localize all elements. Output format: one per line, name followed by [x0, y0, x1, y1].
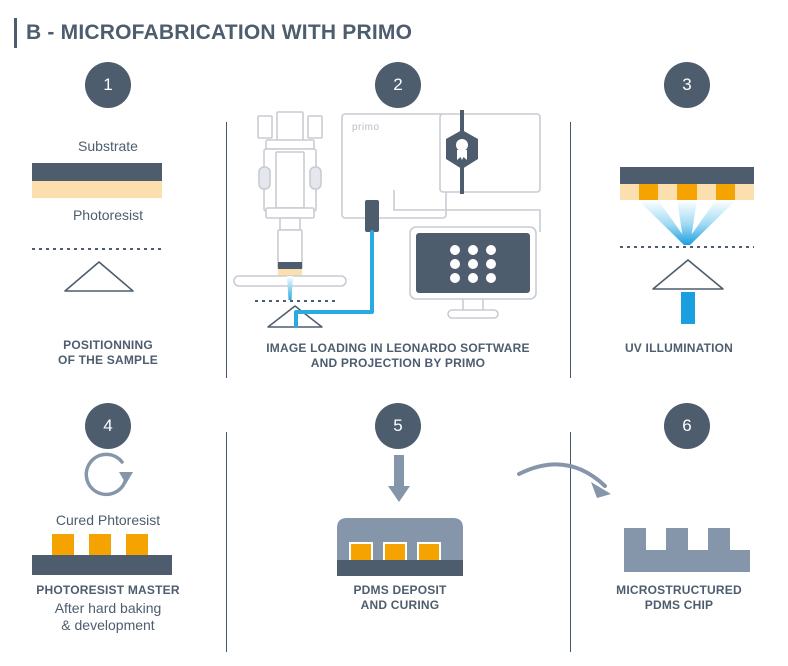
diagram-root: B - MICROFABRICATION WITH PRIMO 1 Substr…: [0, 0, 788, 666]
resist-segment-cured: [639, 184, 658, 200]
label-substrate: Substrate: [0, 138, 216, 154]
demold-curved-arrow: [515, 452, 630, 514]
cured-block-3: [419, 544, 439, 560]
subcaption-step-4: After hard baking & development: [0, 600, 216, 634]
resist-segment-cured: [716, 184, 735, 200]
divider-row2-left: [226, 432, 227, 652]
step-badge-4: 4: [85, 403, 131, 449]
monitor-dot-grid: [450, 245, 496, 283]
substrate-bar-step4: [32, 555, 172, 575]
caption-step-3: UV ILLUMINATION: [570, 341, 788, 356]
objective-lens-step1: [62, 258, 136, 294]
caption-step-2: IMAGE LOADING IN LEONARDO SOFTWARE AND P…: [226, 341, 570, 371]
divider-row1-left: [226, 122, 227, 378]
objective-lens-step3: [650, 256, 726, 292]
cured-block-1: [351, 544, 371, 560]
photoresist-exposed-row-step3: [620, 184, 754, 200]
step-number-6: 6: [682, 416, 691, 436]
caption-step-4: PHOTORESIST MASTER: [0, 583, 216, 598]
step-number-1: 1: [103, 75, 112, 95]
substrate-bar-step5: [337, 560, 463, 576]
step-badge-2: 2: [375, 62, 421, 108]
substrate-bar-step1: [32, 163, 162, 181]
pdms-mold-step5: [333, 514, 467, 576]
focal-plane-dotted-line-step3: [620, 246, 754, 248]
caption-step-1: POSITIONNING OF THE SAMPLE: [0, 338, 216, 368]
caption-step-6: MICROSTRUCTURED PDMS CHIP: [570, 583, 788, 613]
step-number-4: 4: [103, 416, 112, 436]
resist-segment-unexposed: [735, 184, 754, 200]
step-badge-3: 3: [664, 62, 710, 108]
resist-segment-cured: [677, 184, 696, 200]
cured-block-2: [385, 544, 405, 560]
uv-source-bar-step3: [681, 292, 695, 324]
primo-logo-text: primo: [352, 122, 380, 133]
step-number-3: 3: [682, 75, 691, 95]
divider-row1-right: [570, 122, 571, 378]
substrate-bar-step3: [620, 167, 754, 184]
label-photoresist: Photoresist: [0, 207, 216, 223]
page-title: B - MICROFABRICATION WITH PRIMO: [14, 18, 412, 48]
cured-block-3: [126, 534, 148, 555]
computer-monitor: [408, 225, 538, 320]
title-accent-bar: [14, 18, 17, 48]
pdms-deposit-arrow: [386, 455, 412, 505]
microstructured-pdms-chip: [624, 528, 752, 578]
uv-fiber-cable: [286, 200, 396, 330]
cured-block-2: [89, 534, 111, 555]
uv-light-cones: [620, 200, 754, 246]
label-cured-photoresist: Cured Phtoresist: [0, 512, 216, 528]
resist-segment-unexposed: [658, 184, 677, 200]
focal-plane-dotted-line-step1: [32, 248, 162, 250]
caption-step-5: PDMS DEPOSIT AND CURING: [284, 583, 516, 613]
step-badge-5: 5: [375, 403, 421, 449]
cured-block-1: [52, 534, 74, 555]
bake-develop-cycle-arrow: [78, 448, 140, 504]
step-badge-1: 1: [85, 62, 131, 108]
title-text: B - MICROFABRICATION WITH PRIMO: [26, 21, 412, 45]
resist-segment-unexposed: [697, 184, 716, 200]
step-badge-6: 6: [664, 403, 710, 449]
photoresist-bar-step1: [32, 181, 162, 198]
resist-segment-unexposed: [620, 184, 639, 200]
step-number-2: 2: [393, 75, 402, 95]
step-number-5: 5: [393, 416, 402, 436]
